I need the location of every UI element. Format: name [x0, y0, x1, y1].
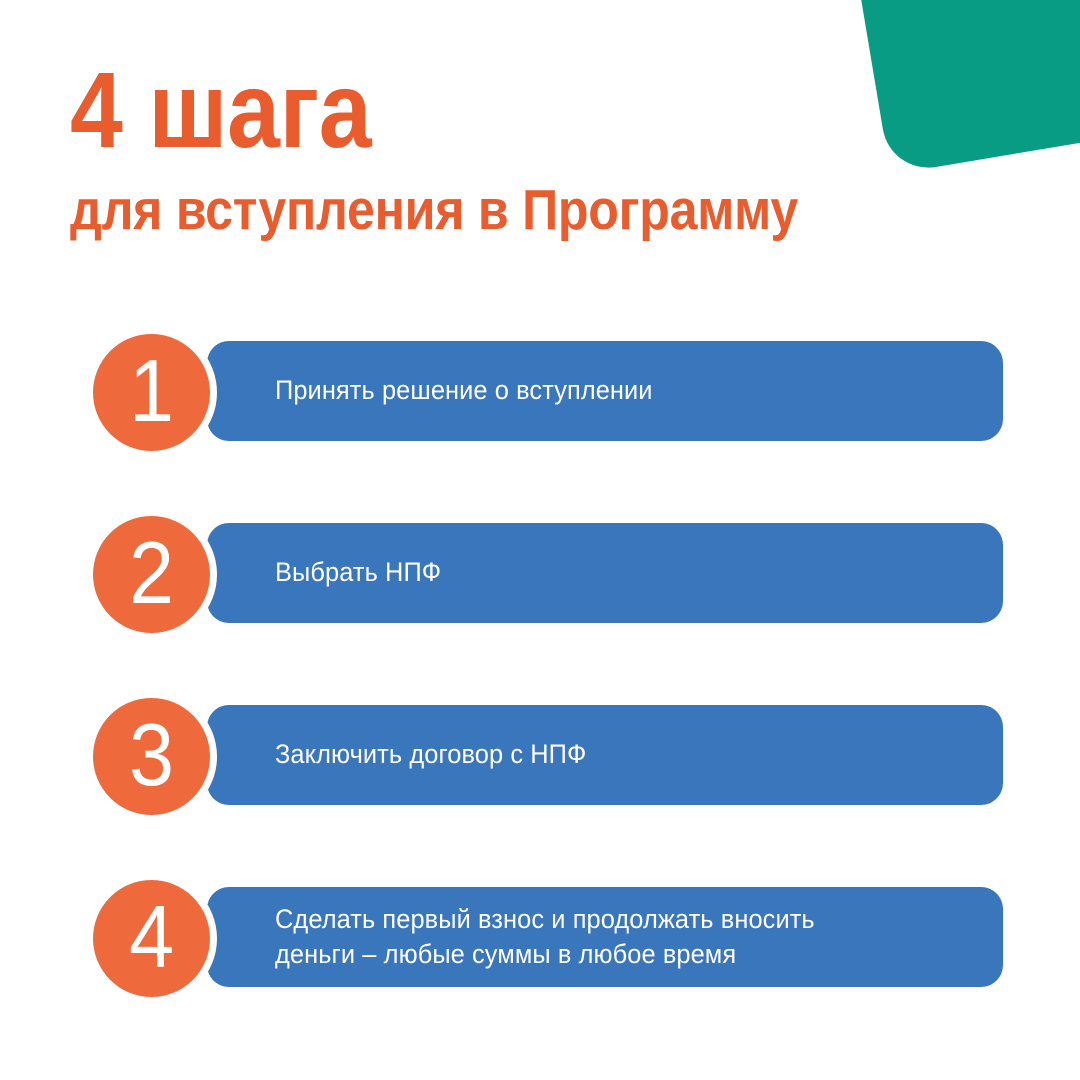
infographic-poster: 4 шага для вступления в Программу Принят… [0, 0, 1080, 1080]
headline-subtitle: для вступления в Программу [70, 182, 906, 239]
step-label: Выбрать НПФ [275, 555, 441, 590]
step-number: 1 [129, 347, 174, 435]
step-item: Выбрать НПФ 2 [0, 509, 1080, 640]
step-bar: Принять решение о вступлении [207, 341, 1003, 441]
step-label: Сделать первый взнос и продолжать вносит… [275, 902, 815, 972]
step-bar: Выбрать НПФ [207, 523, 1003, 623]
step-number: 4 [129, 893, 174, 981]
headline-main-title: 4 шага [70, 56, 906, 164]
step-item: Заключить договор с НПФ 3 [0, 691, 1080, 822]
step-item: Сделать первый взнос и продолжать вносит… [0, 873, 1080, 1004]
step-number-badge: 1 [86, 327, 217, 458]
step-label: Заключить договор с НПФ [275, 737, 586, 772]
steps-list: Принять решение о вступлении 1 Выбрать Н… [0, 327, 1080, 1004]
step-label: Принять решение о вступлении [275, 373, 653, 408]
step-number-badge: 4 [86, 873, 217, 1004]
step-number-badge: 3 [86, 691, 217, 822]
step-item: Принять решение о вступлении 1 [0, 327, 1080, 458]
step-number-badge: 2 [86, 509, 217, 640]
step-bar: Сделать первый взнос и продолжать вносит… [207, 887, 1003, 987]
step-bar: Заключить договор с НПФ [207, 705, 1003, 805]
step-number: 2 [129, 529, 174, 617]
headline: 4 шага для вступления в Программу [70, 56, 1020, 239]
step-number: 3 [129, 711, 174, 799]
